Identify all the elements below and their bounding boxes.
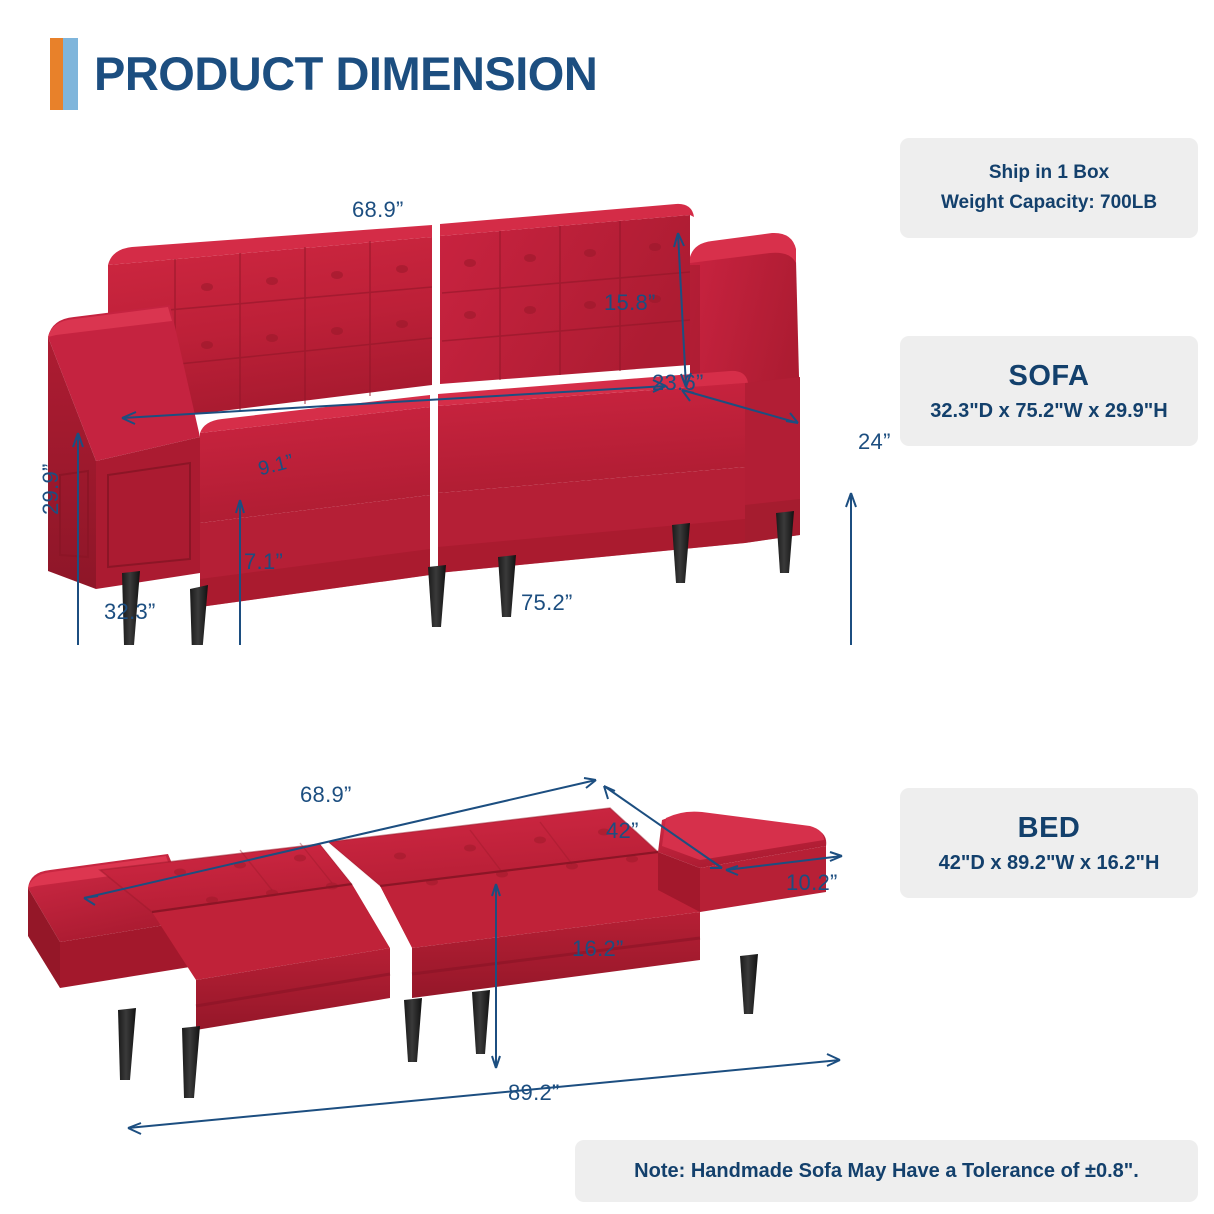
dim-sofa-back-height: 15.8” <box>604 290 656 316</box>
dim-bed-depth: 42” <box>606 818 639 844</box>
bed-card-heading: BED <box>1018 812 1081 845</box>
ship-info-card: Ship in 1 Box Weight Capacity: 700LB <box>900 138 1198 238</box>
ship-box-label: Ship in 1 Box <box>989 162 1109 184</box>
dim-sofa-leg-height: 7.1” <box>244 549 283 575</box>
dim-bed-arm-width: 10.2” <box>786 870 838 896</box>
dim-sofa-seat-depth: 23.6” <box>652 370 704 396</box>
dim-bed-top-width: 68.9” <box>300 782 352 808</box>
dim-bed-height: 16.2” <box>572 936 624 962</box>
sofa-card-dimensions: 32.3"D x 75.2"W x 29.9"H <box>930 400 1167 423</box>
sofa-illustration: 68.9” 29.9” 15.8” 23.6” 24” 9.1” 7.1” 32… <box>0 175 890 645</box>
tolerance-note-text: Note: Handmade Sofa May Have a Tolerance… <box>634 1160 1139 1183</box>
dim-sofa-arm-height: 24” <box>858 429 891 455</box>
bed-illustration: 68.9” 42” 10.2” 16.2” 89.2” <box>0 760 890 1160</box>
dim-sofa-base-depth: 32.3” <box>104 599 156 625</box>
dim-sofa-top-width: 68.9” <box>352 197 404 223</box>
page-title-text: PRODUCT DIMENSION <box>94 38 597 110</box>
sofa-body <box>48 204 800 645</box>
weight-capacity-label: Weight Capacity: 700LB <box>941 192 1157 214</box>
product-dimension-page: PRODUCT DIMENSION <box>0 0 1214 1214</box>
sofa-info-card: SOFA 32.3"D x 75.2"W x 29.9"H <box>900 336 1198 446</box>
tolerance-note-card: Note: Handmade Sofa May Have a Tolerance… <box>575 1140 1198 1202</box>
dim-sofa-base-width: 75.2” <box>521 590 573 616</box>
dim-bed-overall-width: 89.2” <box>508 1080 560 1106</box>
sofa-card-heading: SOFA <box>1009 360 1090 393</box>
dim-sofa-overall-height: 29.9” <box>38 463 64 515</box>
title-accent-blue-bar <box>63 38 78 110</box>
bed-card-dimensions: 42"D x 89.2"W x 16.2"H <box>939 852 1160 875</box>
bed-info-card: BED 42"D x 89.2"W x 16.2"H <box>900 788 1198 898</box>
title-accent-orange-bar <box>50 38 63 110</box>
page-title: PRODUCT DIMENSION <box>50 38 597 110</box>
bed-body <box>28 808 826 1098</box>
